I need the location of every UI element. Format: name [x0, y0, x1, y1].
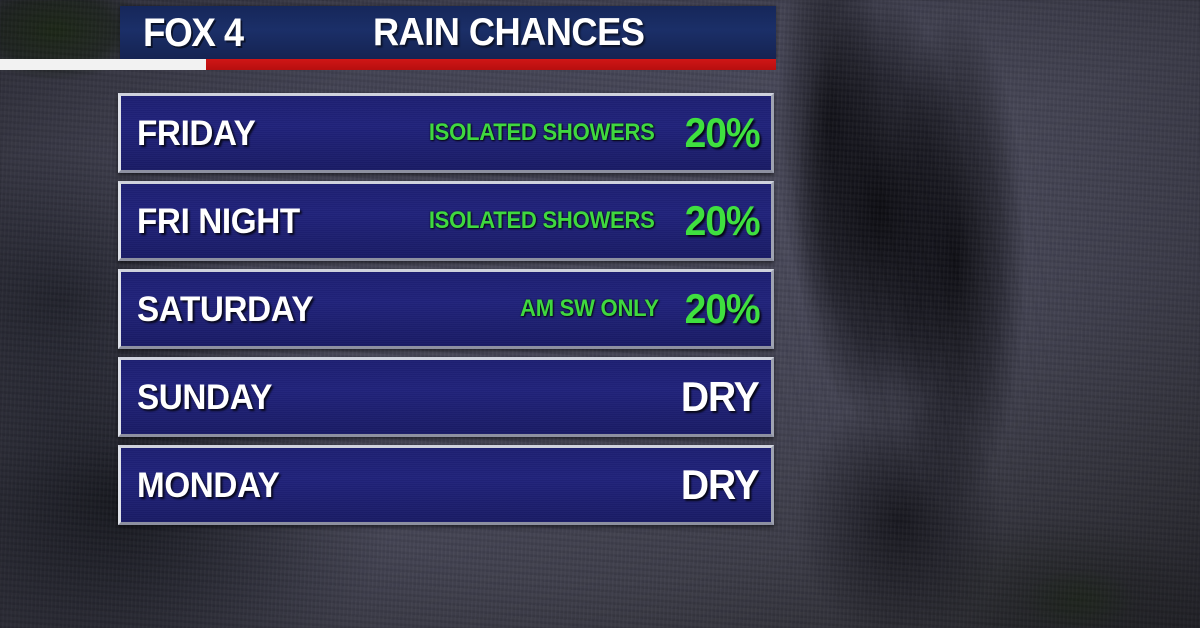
- forecast-row: SUNDAYDRY: [118, 357, 774, 437]
- header-underline-white: [0, 59, 206, 70]
- forecast-value: 20%: [684, 288, 759, 330]
- forecast-day-label: SUNDAY: [137, 380, 272, 415]
- forecast-day-label: MONDAY: [137, 468, 279, 503]
- page-title: RAIN CHANCES: [264, 13, 758, 52]
- forecast-row: FRIDAYISOLATED SHOWERS20%: [118, 93, 774, 173]
- forecast-description: ISOLATED SHOWERS: [429, 209, 655, 233]
- forecast-rows: FRIDAYISOLATED SHOWERS20%FRI NIGHTISOLAT…: [118, 93, 774, 533]
- forecast-value: DRY: [681, 376, 759, 418]
- fox-logo-number: 4: [224, 13, 243, 53]
- forecast-day-label: FRIDAY: [137, 116, 255, 151]
- forecast-value: 20%: [684, 200, 759, 242]
- header-bar: FOX 4 RAIN CHANCES: [120, 6, 776, 59]
- forecast-day-label: FRI NIGHT: [137, 204, 300, 239]
- fox-logo-word: FOX: [143, 13, 215, 53]
- forecast-value: 20%: [684, 112, 759, 154]
- fox4-logo: FOX 4: [143, 13, 245, 53]
- forecast-day-label: SATURDAY: [137, 292, 313, 327]
- forecast-row: SATURDAYAM SW ONLY20%: [118, 269, 774, 349]
- forecast-description: AM SW ONLY: [520, 297, 659, 321]
- forecast-value: DRY: [681, 464, 759, 506]
- header-underline-red: [206, 59, 776, 70]
- weather-graphic: FOX 4 RAIN CHANCES FRIDAYISOLATED SHOWER…: [0, 0, 1200, 628]
- forecast-row: FRI NIGHTISOLATED SHOWERS20%: [118, 181, 774, 261]
- forecast-description: ISOLATED SHOWERS: [429, 121, 655, 145]
- forecast-row: MONDAYDRY: [118, 445, 774, 525]
